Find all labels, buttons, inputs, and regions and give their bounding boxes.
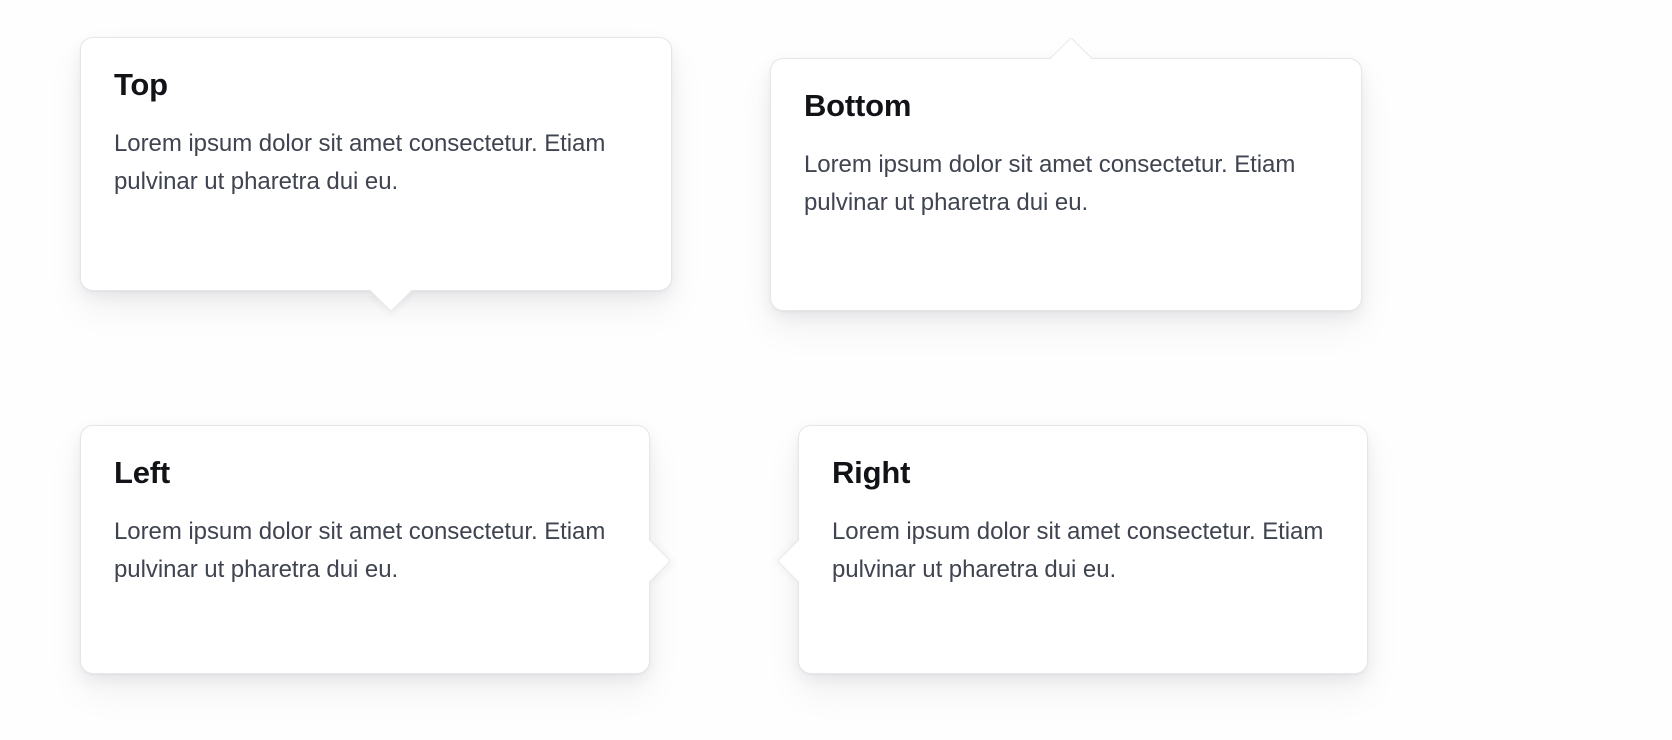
tooltip-title: Left [114,456,615,491]
tooltip-body: Lorem ipsum dolor sit amet consectetur. … [114,513,615,589]
tooltip-right: Right Lorem ipsum dolor sit amet consect… [798,425,1368,674]
tooltip-body: Lorem ipsum dolor sit amet consectetur. … [804,146,1327,222]
tooltip-arrow-left-icon [777,540,819,582]
tooltip-bottom: Bottom Lorem ipsum dolor sit amet consec… [770,58,1362,311]
tooltip-arrow-up-icon [1050,37,1092,79]
tooltip-body: Lorem ipsum dolor sit amet consectetur. … [832,513,1333,589]
tooltip-top: Top Lorem ipsum dolor sit amet consectet… [80,37,672,291]
tooltip-left: Left Lorem ipsum dolor sit amet consecte… [80,425,650,674]
tooltip-body: Lorem ipsum dolor sit amet consectetur. … [114,125,637,201]
tooltip-showcase: Top Lorem ipsum dolor sit amet consectet… [0,0,1672,740]
tooltip-arrow-right-icon [629,540,671,582]
tooltip-title: Bottom [804,89,1327,124]
tooltip-title: Right [832,456,1333,491]
tooltip-title: Top [114,68,637,103]
tooltip-arrow-down-icon [370,270,412,312]
